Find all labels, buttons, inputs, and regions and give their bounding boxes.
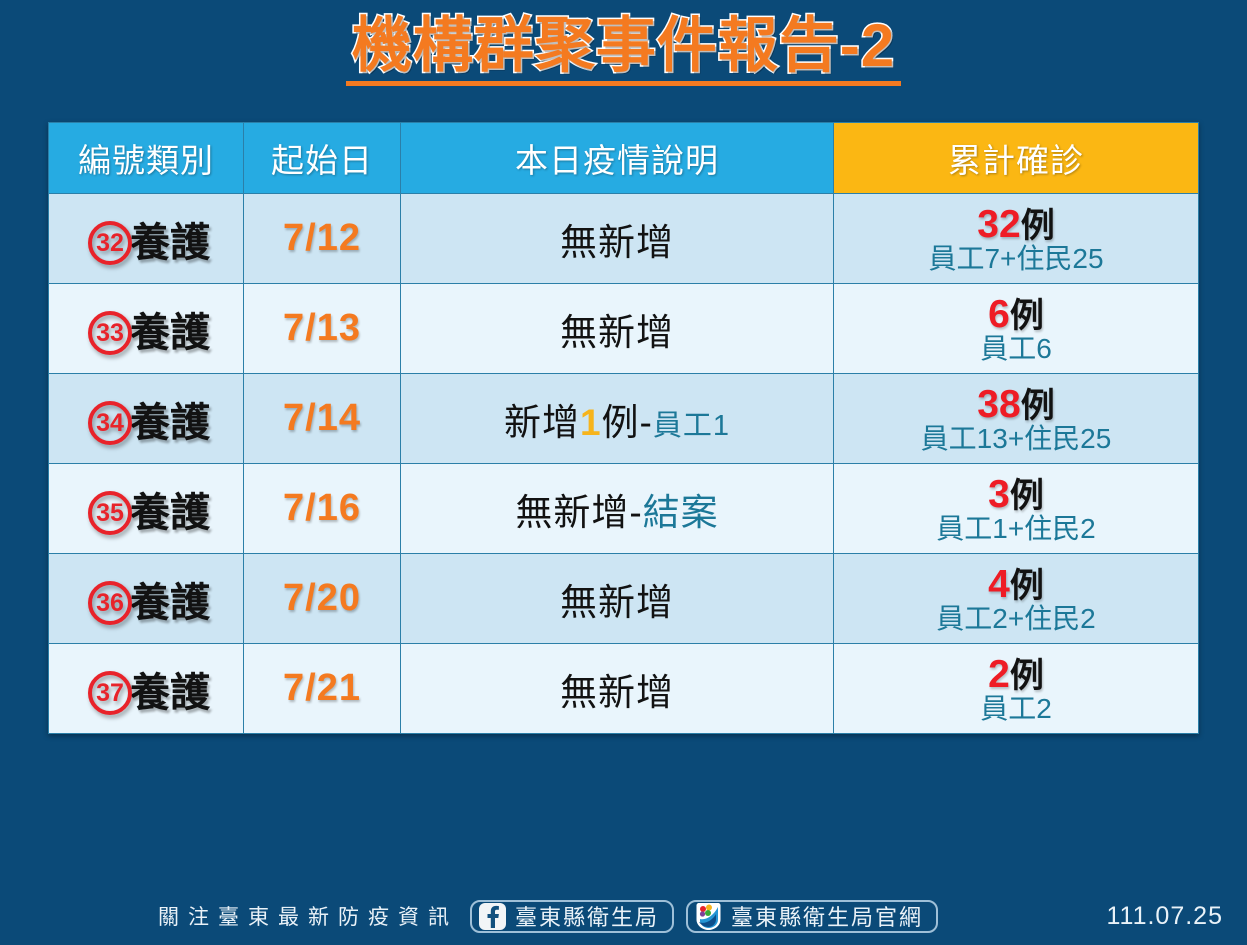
note-prefix: 無新增 <box>560 222 674 263</box>
cell-id-category: 32養護 <box>49 194 244 284</box>
cell-start-date: 7/16 <box>244 464 401 554</box>
total-count: 4 <box>988 563 1010 606</box>
total-line: 3例 <box>834 475 1198 514</box>
note-dash: - <box>640 402 653 443</box>
follow-prompt-text: 關注臺東最新防疫資訊 <box>158 901 458 931</box>
total-count: 2 <box>988 653 1010 696</box>
table-header: 編號類別 起始日 本日疫情說明 累計確診 <box>49 123 1199 194</box>
facebook-link[interactable]: 臺東縣衛生局 <box>470 900 674 933</box>
column-header-cumulative-confirmed: 累計確診 <box>834 123 1199 194</box>
total-unit: 例 <box>1010 297 1044 335</box>
category-label: 養護 <box>130 210 210 268</box>
table-row: 33養護7/13無新增6例員工6 <box>49 284 1199 374</box>
note-prefix: 新增 <box>504 402 580 443</box>
cell-id-category: 34養護 <box>49 374 244 464</box>
table-body: 32養護7/12無新增32例員工7+住民2533養護7/13無新增6例員工634… <box>49 194 1199 734</box>
cell-cumulative-confirmed: 2例員工2 <box>834 644 1199 734</box>
official-website-link-label: 臺東縣衛生局官網 <box>731 900 923 932</box>
circled-case-number: 33 <box>88 311 132 355</box>
cell-cumulative-confirmed: 4例員工2+住民2 <box>834 554 1199 644</box>
table-row: 37養護7/21無新增2例員工2 <box>49 644 1199 734</box>
cell-start-date: 7/20 <box>244 554 401 644</box>
total-line: 4例 <box>834 565 1198 604</box>
table-row: 36養護7/20無新增4例員工2+住民2 <box>49 554 1199 644</box>
facebook-link-label: 臺東縣衛生局 <box>515 900 659 932</box>
cell-start-date: 7/13 <box>244 284 401 374</box>
total-breakdown: 員工7+住民25 <box>834 245 1198 273</box>
cell-today-note: 無新增 <box>401 644 834 734</box>
total-unit: 例 <box>1021 387 1055 425</box>
table-row: 34養護7/14新增1例-員工138例員工13+住民25 <box>49 374 1199 464</box>
total-unit: 例 <box>1021 207 1055 245</box>
note-highlight-count: 1 <box>580 402 602 443</box>
total-count: 3 <box>988 473 1010 516</box>
cell-cumulative-confirmed: 3例員工1+住民2 <box>834 464 1199 554</box>
category-label: 養護 <box>130 570 210 628</box>
total-line: 38例 <box>834 385 1198 424</box>
total-breakdown: 員工1+住民2 <box>834 515 1198 543</box>
table-header-row: 編號類別 起始日 本日疫情說明 累計確診 <box>49 123 1199 194</box>
cluster-report-table: 編號類別 起始日 本日疫情說明 累計確診 32養護7/12無新增32例員工7+住… <box>48 122 1199 734</box>
cell-id-category: 37養護 <box>49 644 244 734</box>
circled-case-number: 36 <box>88 581 132 625</box>
footer-links: 關注臺東最新防疫資訊 臺東縣衛生局 臺 <box>158 900 938 933</box>
official-website-link[interactable]: 臺東縣衛生局官網 <box>686 900 938 933</box>
total-count: 32 <box>977 203 1020 246</box>
cell-start-date: 7/21 <box>244 644 401 734</box>
cell-cumulative-confirmed: 6例員工6 <box>834 284 1199 374</box>
cell-start-date: 7/12 <box>244 194 401 284</box>
taitung-health-bureau-logo-icon <box>695 902 722 931</box>
total-unit: 例 <box>1010 567 1044 605</box>
total-breakdown: 員工6 <box>834 335 1198 363</box>
circled-case-number: 37 <box>88 671 132 715</box>
category-label: 養護 <box>130 480 210 538</box>
column-header-today-note: 本日疫情說明 <box>401 123 834 194</box>
cell-cumulative-confirmed: 38例員工13+住民25 <box>834 374 1199 464</box>
note-unit: 例 <box>602 402 640 443</box>
page-title: 機構群聚事件報告-2 <box>346 14 901 86</box>
cell-start-date: 7/14 <box>244 374 401 464</box>
circled-case-number: 32 <box>88 221 132 265</box>
table-row: 35養護7/16無新增-結案3例員工1+住民2 <box>49 464 1199 554</box>
note-prefix: 無新增 <box>560 672 674 713</box>
total-line: 6例 <box>834 295 1198 334</box>
category-label: 養護 <box>130 300 210 358</box>
page-title-container: 機構群聚事件報告-2 <box>0 14 1247 86</box>
facebook-icon <box>479 903 506 930</box>
circled-case-number: 35 <box>88 491 132 535</box>
footer: 關注臺東最新防疫資訊 臺東縣衛生局 臺 <box>0 893 1247 939</box>
total-unit: 例 <box>1010 477 1044 515</box>
cell-id-category: 36養護 <box>49 554 244 644</box>
note-detail: 結案 <box>643 492 719 533</box>
total-count: 38 <box>977 383 1020 426</box>
cell-today-note: 無新增 <box>401 284 834 374</box>
cell-today-note: 新增1例-員工1 <box>401 374 834 464</box>
note-prefix: 無新增 <box>560 582 674 623</box>
category-label: 養護 <box>130 390 210 448</box>
note-prefix: 無新增 <box>560 312 674 353</box>
cell-id-category: 33養護 <box>49 284 244 374</box>
total-breakdown: 員工2 <box>834 695 1198 723</box>
note-detail: 員工1 <box>653 410 730 442</box>
column-header-id-category: 編號類別 <box>49 123 244 194</box>
cell-today-note: 無新增 <box>401 554 834 644</box>
cell-id-category: 35養護 <box>49 464 244 554</box>
cell-cumulative-confirmed: 32例員工7+住民25 <box>834 194 1199 284</box>
note-prefix: 無新增 <box>515 492 629 533</box>
column-header-start-date: 起始日 <box>244 123 401 194</box>
total-count: 6 <box>988 293 1010 336</box>
total-breakdown: 員工2+住民2 <box>834 605 1198 633</box>
date-stamp: 111.07.25 <box>1106 902 1223 931</box>
circled-case-number: 34 <box>88 401 132 445</box>
table-row: 32養護7/12無新增32例員工7+住民25 <box>49 194 1199 284</box>
cell-today-note: 無新增 <box>401 194 834 284</box>
cell-today-note: 無新增-結案 <box>401 464 834 554</box>
total-line: 32例 <box>834 205 1198 244</box>
category-label: 養護 <box>130 660 210 718</box>
total-unit: 例 <box>1010 657 1044 695</box>
total-breakdown: 員工13+住民25 <box>834 425 1198 453</box>
note-dash: - <box>629 492 642 533</box>
total-line: 2例 <box>834 655 1198 694</box>
